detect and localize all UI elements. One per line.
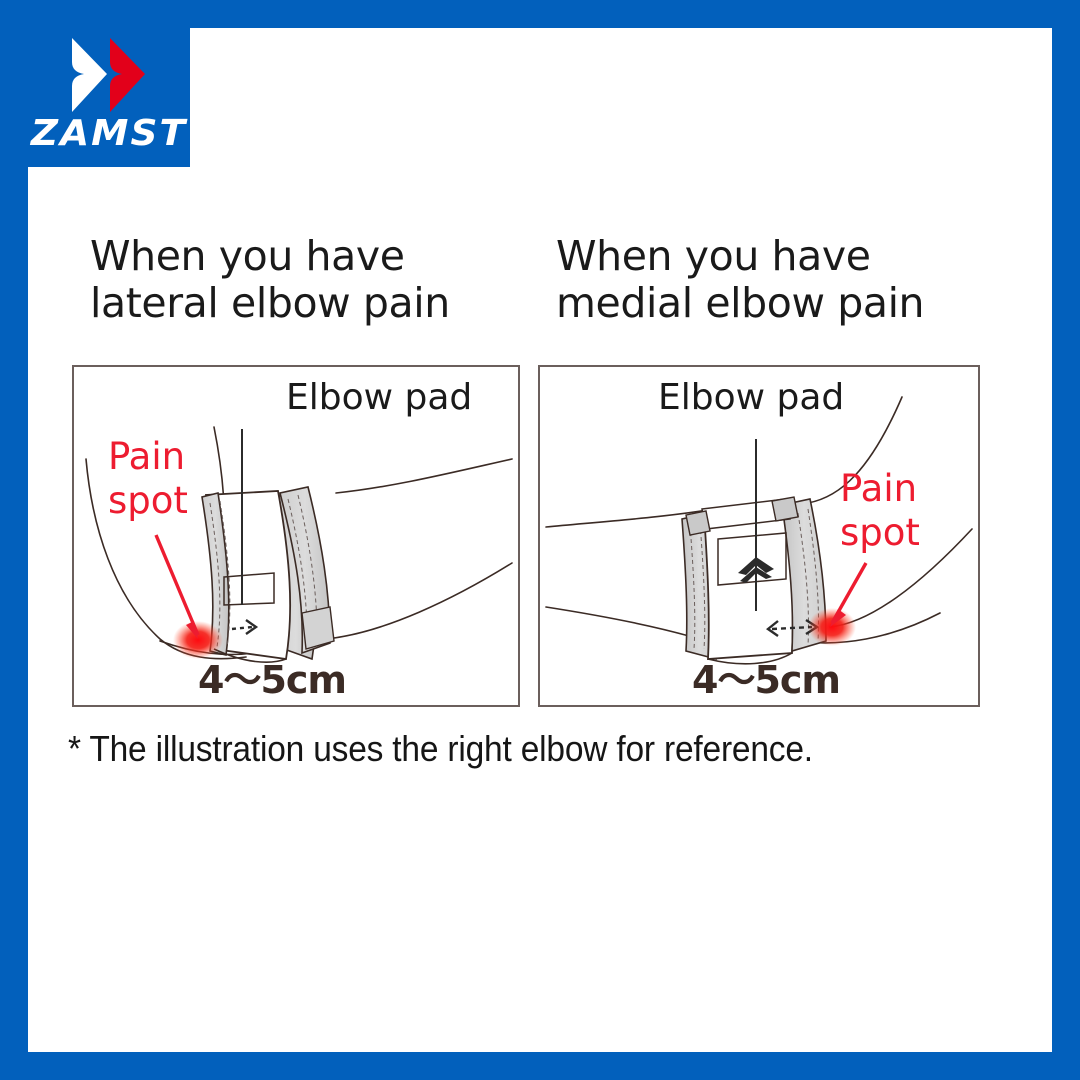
zamst-logo: ZAMST: [28, 28, 190, 167]
footnote-text: * The illustration uses the right elbow …: [68, 728, 961, 770]
white-canvas: ZAMST When you have lateral elbow pain W…: [28, 28, 1052, 1052]
pain-spot-arrow-line: [156, 535, 198, 635]
elbow-pad-label-left: Elbow pad: [286, 377, 472, 418]
heading-lateral: When you have lateral elbow pain: [90, 233, 550, 327]
zamst-wordmark: ZAMST: [25, 113, 193, 155]
poster-root: ZAMST When you have lateral elbow pain W…: [0, 0, 1080, 1080]
elbow-pad-label-right: Elbow pad: [658, 377, 844, 418]
measurement-label-right: 4～5cm: [692, 649, 840, 704]
zamst-chevron-icon: [44, 36, 174, 114]
pain-spot-marker: [808, 608, 856, 646]
pain-spot-label-left: Pain spot: [108, 435, 188, 523]
pain-spot-label-right: Pain spot: [840, 467, 920, 555]
illustration-panel-lateral: Elbow pad Pain spot 4～5cm: [72, 365, 520, 707]
heading-medial: When you have medial elbow pain: [556, 233, 1016, 327]
measurement-label-left: 4～5cm: [198, 649, 346, 704]
illustration-panel-medial: Elbow pad Pain spot 4～5cm: [538, 365, 980, 707]
